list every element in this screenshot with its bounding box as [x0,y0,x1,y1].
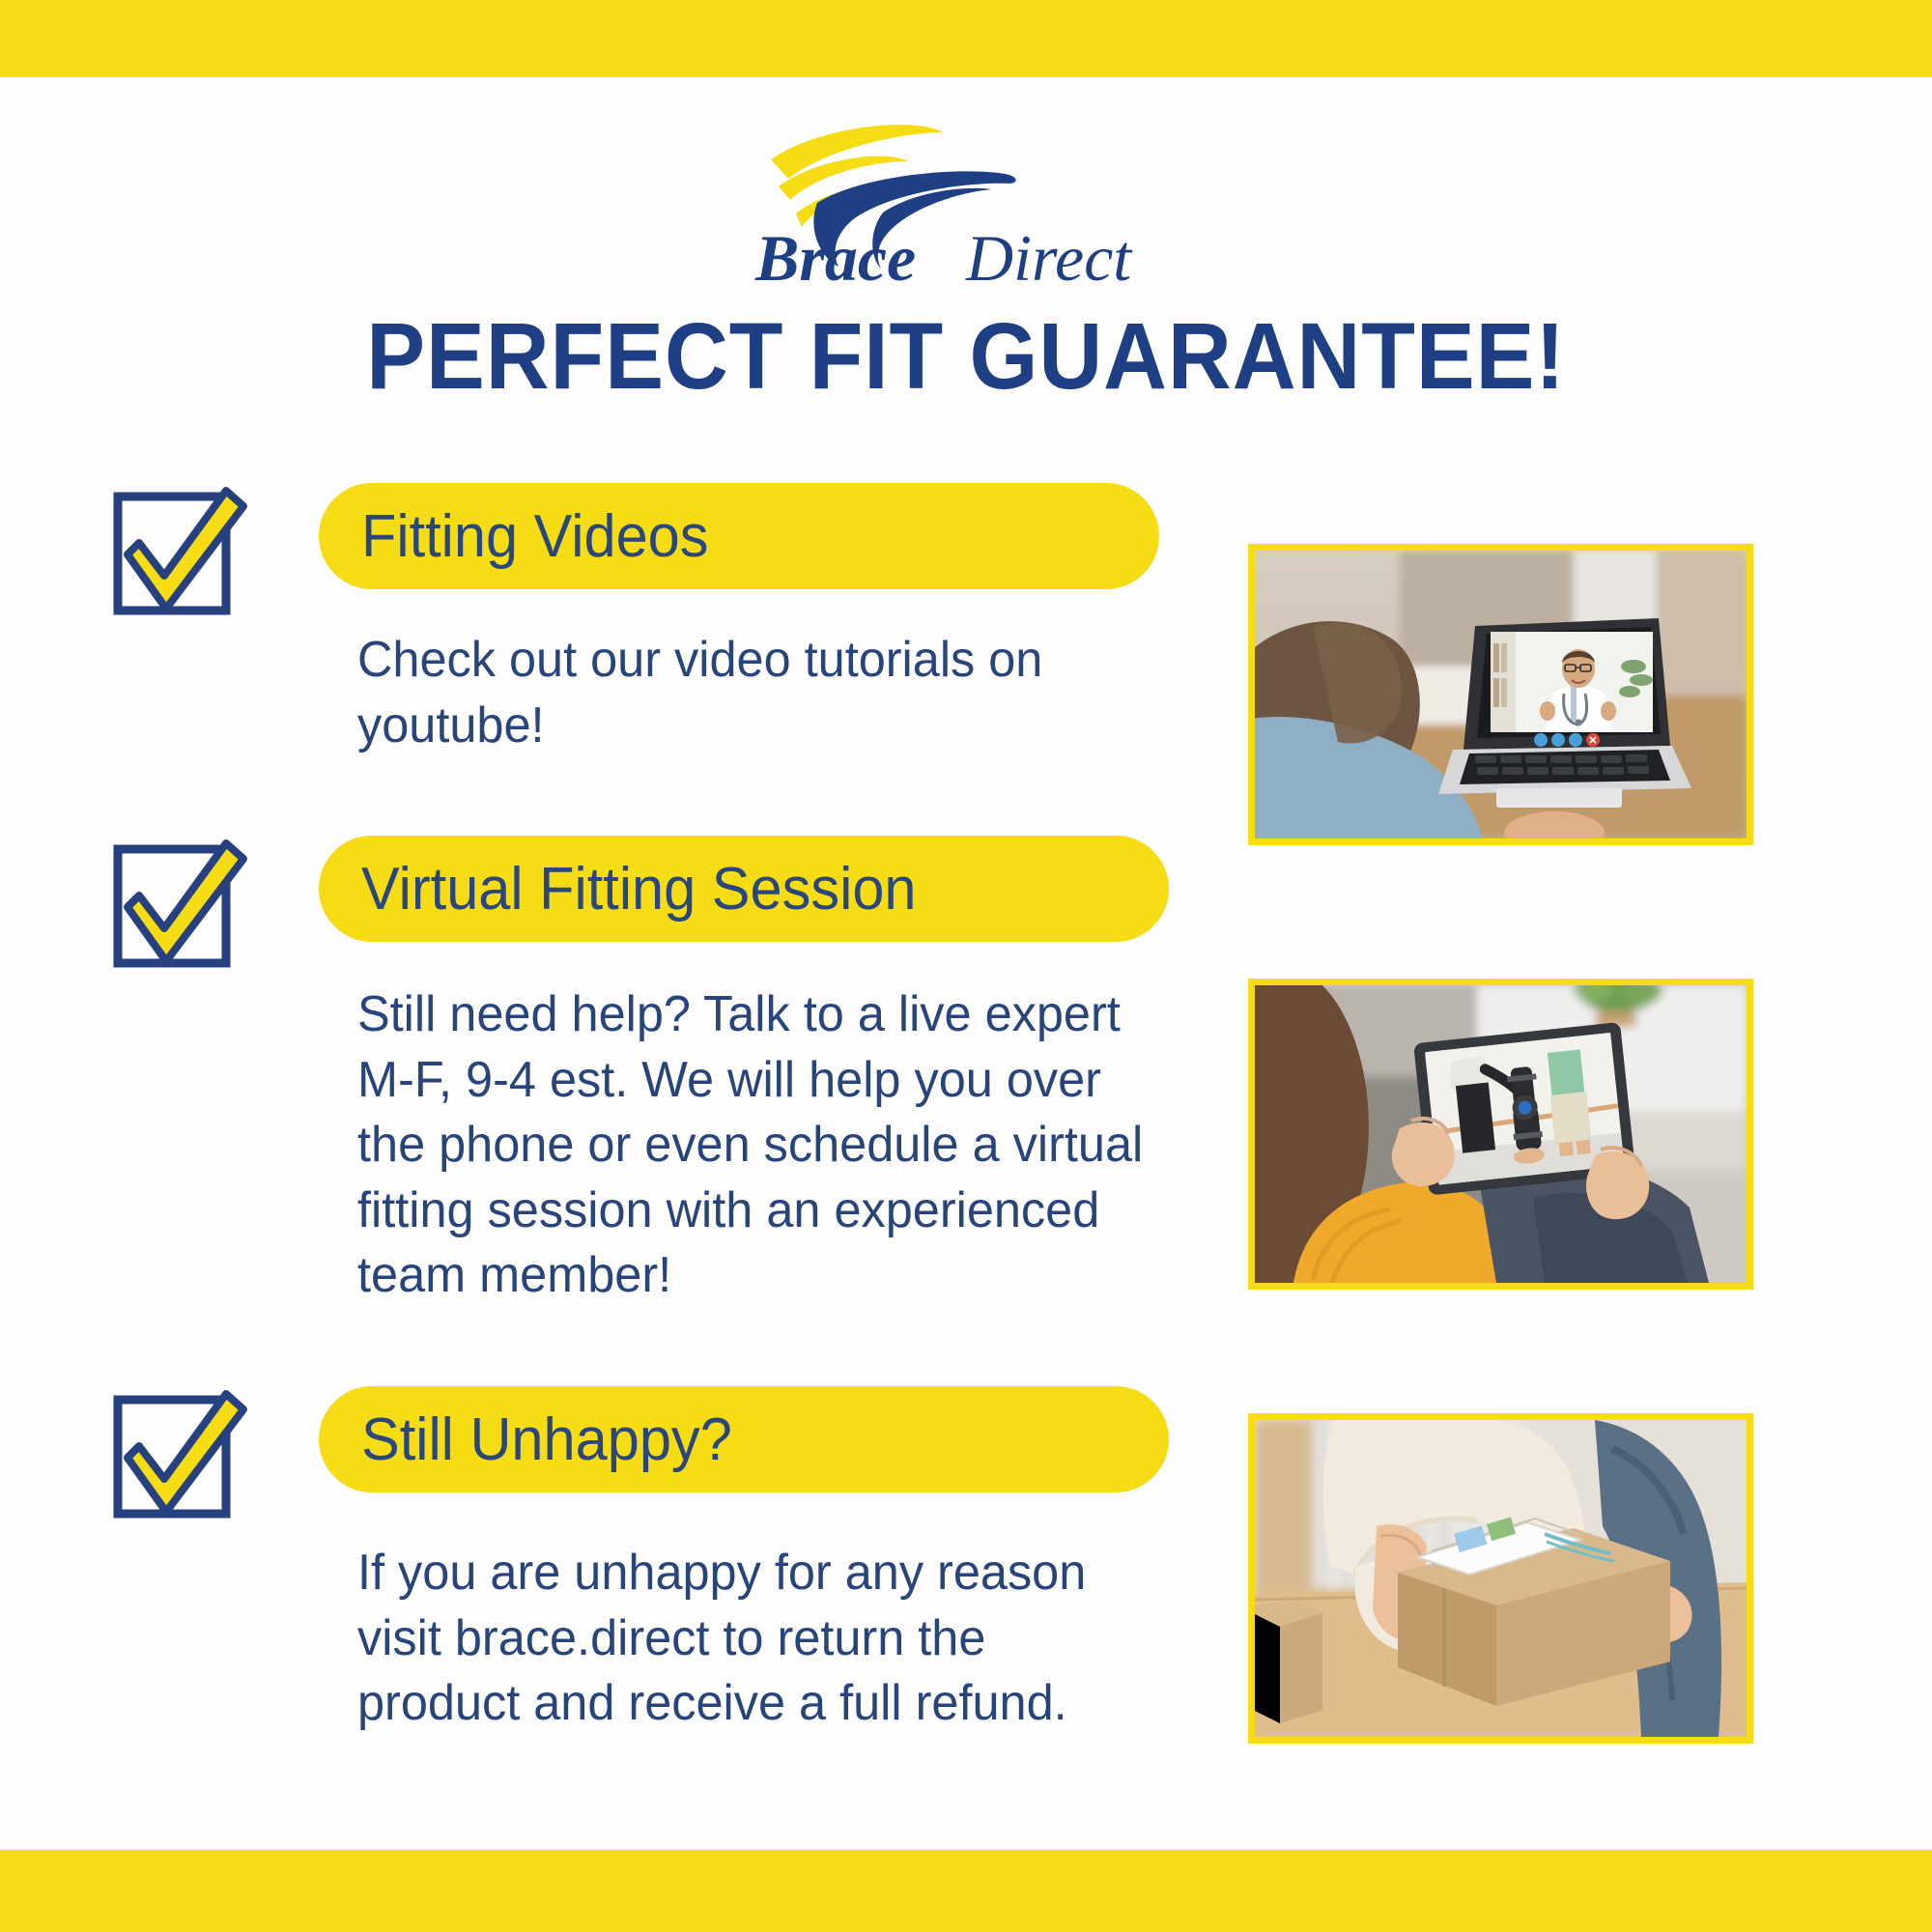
section-heading-label: Virtual Fitting Session [361,855,917,923]
photo-fitting-videos [1248,544,1753,845]
section-body-text: If you are unhappy for any reason visit … [357,1541,1145,1737]
photo-still-unhappy-return [1248,1413,1753,1744]
top-accent-bar [0,0,1932,77]
section-heading-label: Fitting Videos [361,502,709,571]
brand-logo[interactable]: Brace Direct [0,114,1932,307]
section-heading-label: Still Unhappy? [361,1406,732,1474]
brace-direct-logo-mark: Brace Direct [734,114,1198,293]
section-heading-pill[interactable]: Virtual Fitting Session [319,836,1169,942]
photo-virtual-fitting-session [1248,979,1753,1290]
poster-canvas: Brace Direct PERFECT FIT GUARANTEE! Fitt… [0,0,1932,1932]
tablet-fitting-illustration [1255,985,1747,1283]
svg-text:Direct: Direct [965,221,1133,293]
section-heading-pill[interactable]: Fitting Videos [319,483,1159,589]
checkbox-checked-icon [106,475,251,620]
checkbox-checked-icon [106,1378,251,1523]
parcel-handover-illustration [1255,1420,1747,1737]
section-body-text: Still need help? Talk to a live expert M… [357,982,1182,1309]
page-title: PERFECT FIT GUARANTEE! [58,309,1874,403]
telehealth-laptop-illustration [1255,551,1747,838]
svg-text:Brace: Brace [754,221,916,293]
section-body-text: Check out our video tutorials on youtube… [357,628,1097,758]
section-heading-pill[interactable]: Still Unhappy? [319,1386,1169,1492]
checkbox-checked-icon [106,828,251,973]
bottom-accent-bar [0,1850,1932,1932]
